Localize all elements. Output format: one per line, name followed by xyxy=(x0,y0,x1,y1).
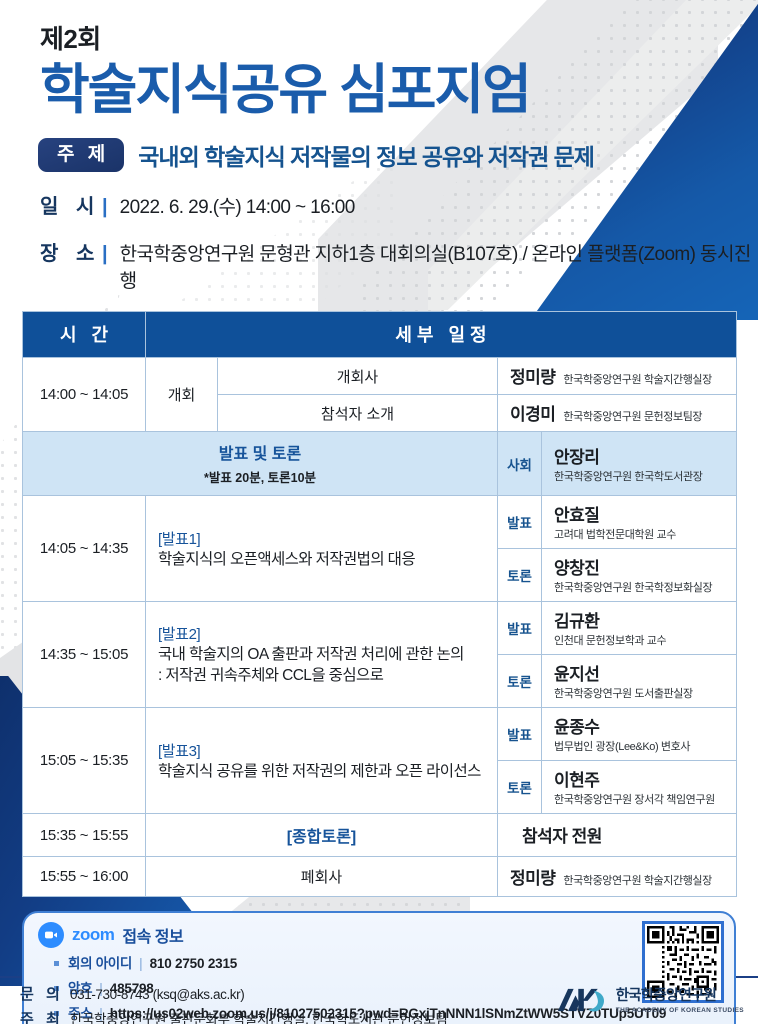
person-affiliation: 고려대 법학전문대학원 교수 xyxy=(554,526,728,542)
cell-role-discussant-1: 토론 xyxy=(498,549,542,602)
cell-detail-closing: 폐회사 xyxy=(146,857,498,897)
table-row: 14:35 ~ 15:05 [발표2] 국내 학술지의 OA 출판과 저작권 처… xyxy=(23,602,737,655)
subject-row: 주 제 국내외 학술지식 저작물의 정보 공유와 저작권 문제 xyxy=(38,138,758,172)
cell-detail-talk-2: [발표2] 국내 학술지의 OA 출판과 저작권 처리에 관한 논의 : 저작권… xyxy=(146,602,498,708)
contact-value: 031-730-8743 (ksq@aks.ac.kr) xyxy=(70,987,244,1002)
talk-tag: [발표2] xyxy=(158,623,485,644)
place-line: 장 소 | 한국학중앙연구원 문형관 지하1층 대회의실(B107호) / 온라… xyxy=(40,237,758,293)
table-row: 14:05 ~ 14:35 [발표1] 학술지식의 오픈액세스와 저작권법의 대… xyxy=(23,496,737,549)
cell-detail-talk-3: [발표3] 학술지식 공유를 위한 저작권의 제한과 오픈 라이선스 xyxy=(146,708,498,814)
zoom-separator: | xyxy=(139,956,143,971)
cell-person-presenter-2: 김규환 인천대 문헌정보학과 교수 xyxy=(542,602,737,655)
aks-logo-text-ko: 한국학중앙연구원 xyxy=(616,988,716,1004)
cell-person-panel: 참석자 전원 xyxy=(498,814,737,857)
cell-time-closing: 15:55 ~ 16:00 xyxy=(23,857,146,897)
cell-person-presenter-3: 윤종수 법무법인 광장(Lee&Ko) 변호사 xyxy=(542,708,737,761)
zoom-box-title: 접속 정보 xyxy=(122,923,183,947)
aks-logo-mark xyxy=(556,985,608,1015)
talk-tag: [발표1] xyxy=(158,528,485,549)
table-row: 15:35 ~ 15:55 [종합토론] 참석자 전원 xyxy=(23,814,737,857)
host-label: 주 최 xyxy=(20,1008,70,1024)
place-value: 한국학중앙연구원 문형관 지하1층 대회의실(B107호) / 온라인 플랫폼(… xyxy=(120,239,758,293)
zoom-meeting-id-value: 810 2750 2315 xyxy=(150,956,238,971)
talk-title: 학술지식의 오픈액세스와 저작권법의 대응 xyxy=(158,549,485,570)
table-row: 15:05 ~ 15:35 [발표3] 학술지식 공유를 위한 저작권의 제한과… xyxy=(23,708,737,761)
session-banner-note: *발표 20분, 토론10분 xyxy=(23,467,497,486)
date-label: 일 시 xyxy=(40,190,102,219)
cell-role-presenter-3: 발표 xyxy=(498,708,542,761)
person-name: 정미량 xyxy=(510,363,555,388)
cell-time-opening: 14:00 ~ 14:05 xyxy=(23,358,146,432)
cell-time-panel: 15:35 ~ 15:55 xyxy=(23,814,146,857)
person-affiliation: 한국학중앙연구원 한국학도서관장 xyxy=(554,468,728,484)
person-name: 윤지선 xyxy=(554,660,728,685)
column-header-detail: 세부 일정 xyxy=(146,312,737,358)
page-title: 학술지식공유 심포지엄 xyxy=(40,60,758,120)
cell-person-chair: 안장리 한국학중앙연구원 한국학도서관장 xyxy=(542,432,737,496)
place-separator: | xyxy=(102,243,108,266)
cell-session-banner: 발표 및 토론 *발표 20분, 토론10분 xyxy=(23,432,498,496)
person-affiliation: 인천대 문헌정보학과 교수 xyxy=(554,632,728,648)
poster-header: 제2회 학술지식공유 심포지엄 xyxy=(0,0,758,120)
person-name: 안효질 xyxy=(554,501,728,526)
host-line: 주 최 한국학중앙연구원 출판문화부 학술지간행실, 한국학도서관 문헌정보팀 xyxy=(20,1008,447,1024)
cell-person-discussant-3: 이현주 한국학중앙연구원 장서각 책임연구원 xyxy=(542,761,737,814)
table-row-session-banner: 발표 및 토론 *발표 20분, 토론10분 사회 안장리 한국학중앙연구원 한… xyxy=(23,432,737,496)
place-label: 장 소 xyxy=(40,237,102,266)
host-value: 한국학중앙연구원 출판문화부 학술지간행실, 한국학도서관 문헌정보팀 xyxy=(70,1008,447,1024)
cell-detail-panel: [종합토론] xyxy=(146,814,498,857)
person-name: 이현주 xyxy=(554,766,728,791)
person-affiliation: 한국학중앙연구원 문헌정보팀장 xyxy=(563,408,702,424)
cell-person-discussant-2: 윤지선 한국학중앙연구원 도서출판실장 xyxy=(542,655,737,708)
cell-person-opening-1: 정미량한국학중앙연구원 학술지간행실장 xyxy=(498,358,737,395)
panel-title: [종합토론] xyxy=(287,829,357,846)
edition-label: 제2회 xyxy=(40,26,758,52)
subject-badge: 주 제 xyxy=(38,138,124,172)
cell-role-presenter-2: 발표 xyxy=(498,602,542,655)
video-camera-icon xyxy=(38,922,64,948)
date-value: 2022. 6. 29.(수) 14:00 ~ 16:00 xyxy=(120,192,355,219)
cell-segment-opening: 개회 xyxy=(146,358,218,432)
person-affiliation: 한국학중앙연구원 한국학정보화실장 xyxy=(554,579,728,595)
person-affiliation: 한국학중앙연구원 도서출판실장 xyxy=(554,685,728,701)
table-header-row: 시 간 세부 일정 xyxy=(23,312,737,358)
talk-tag: [발표3] xyxy=(158,740,485,761)
cell-role-discussant-3: 토론 xyxy=(498,761,542,814)
poster-root: 제2회 학술지식공유 심포지엄 주 제 국내외 학술지식 저작물의 정보 공유와… xyxy=(0,0,758,1024)
cell-person-presenter-1: 안효질 고려대 법학전문대학원 교수 xyxy=(542,496,737,549)
cell-role-presenter-1: 발표 xyxy=(498,496,542,549)
column-header-time: 시 간 xyxy=(23,312,146,358)
talk-subtitle: : 저작권 귀속주체와 CCL을 중심으로 xyxy=(158,665,485,686)
footer-text-block: 문 의 031-730-8743 (ksq@aks.ac.kr) 주 최 한국학… xyxy=(20,983,447,1024)
date-separator: | xyxy=(102,196,108,219)
person-affiliation: 한국학중앙연구원 장서각 책임연구원 xyxy=(554,791,728,807)
person-affiliation: 한국학중앙연구원 학술지간행실장 xyxy=(563,371,711,387)
cell-detail-opening-1: 개회사 xyxy=(218,358,498,395)
bullet-icon xyxy=(54,961,59,966)
person-name: 윤종수 xyxy=(554,713,728,738)
subject-text: 국내외 학술지식 저작물의 정보 공유와 저작권 문제 xyxy=(138,138,594,172)
person-name: 김규환 xyxy=(554,607,728,632)
list-item: 회의 아이디 | 810 2750 2315 xyxy=(54,952,720,972)
cell-role-chair: 사회 xyxy=(498,432,542,496)
date-line: 일 시 | 2022. 6. 29.(수) 14:00 ~ 16:00 xyxy=(40,190,758,219)
cell-role-discussant-2: 토론 xyxy=(498,655,542,708)
contact-label: 문 의 xyxy=(20,983,70,1004)
zoom-meeting-id-label: 회의 아이디 xyxy=(68,952,132,972)
cell-time-talk-3: 15:05 ~ 15:35 xyxy=(23,708,146,814)
poster-footer: 문 의 031-730-8743 (ksq@aks.ac.kr) 주 최 한국학… xyxy=(0,978,758,1024)
aks-logo: 한국학중앙연구원 THE ACADEMY OF KOREAN STUDIES xyxy=(556,985,744,1015)
cell-person-discussant-1: 양창진 한국학중앙연구원 한국학정보화실장 xyxy=(542,549,737,602)
cell-time-talk-1: 14:05 ~ 14:35 xyxy=(23,496,146,602)
person-name: 이경미 xyxy=(510,400,555,425)
zoom-box-header: zoom 접속 정보 xyxy=(38,922,720,948)
person-name: 정미량 xyxy=(510,864,555,889)
cell-detail-talk-1: [발표1] 학술지식의 오픈액세스와 저작권법의 대응 xyxy=(146,496,498,602)
aks-logo-text: 한국학중앙연구원 THE ACADEMY OF KOREAN STUDIES xyxy=(616,987,744,1014)
table-body: 14:00 ~ 14:05 개회 개회사 정미량한국학중앙연구원 학술지간행실장… xyxy=(23,358,737,897)
cell-person-opening-2: 이경미한국학중앙연구원 문헌정보팀장 xyxy=(498,395,737,432)
panel-participants: 참석자 전원 xyxy=(510,827,602,846)
person-affiliation: 한국학중앙연구원 학술지간행실장 xyxy=(563,872,711,888)
contact-line: 문 의 031-730-8743 (ksq@aks.ac.kr) xyxy=(20,983,447,1004)
person-name: 양창진 xyxy=(554,554,728,579)
table-row: 14:00 ~ 14:05 개회 개회사 정미량한국학중앙연구원 학술지간행실장 xyxy=(23,358,737,395)
cell-time-talk-2: 14:35 ~ 15:05 xyxy=(23,602,146,708)
cell-person-closing: 정미량한국학중앙연구원 학술지간행실장 xyxy=(498,857,737,897)
schedule-table: 시 간 세부 일정 14:00 ~ 14:05 개회 개회사 정미량한국학중앙연… xyxy=(22,311,737,897)
schedule-table-wrapper: 시 간 세부 일정 14:00 ~ 14:05 개회 개회사 정미량한국학중앙연… xyxy=(22,311,736,897)
table-row: 15:55 ~ 16:00 폐회사 정미량한국학중앙연구원 학술지간행실장 xyxy=(23,857,737,897)
table-head: 시 간 세부 일정 xyxy=(23,312,737,358)
zoom-brand-label: zoom xyxy=(72,925,114,945)
cell-detail-opening-2: 참석자 소개 xyxy=(218,395,498,432)
person-affiliation: 법무법인 광장(Lee&Ko) 변호사 xyxy=(554,738,728,754)
session-banner-title: 발표 및 토론 xyxy=(23,440,497,464)
aks-logo-text-en: THE ACADEMY OF KOREAN STUDIES xyxy=(616,1007,744,1014)
talk-title: 학술지식 공유를 위한 저작권의 제한과 오픈 라이선스 xyxy=(158,761,485,782)
talk-title: 국내 학술지의 OA 출판과 저작권 처리에 관한 논의 xyxy=(158,644,485,665)
person-name: 안장리 xyxy=(554,443,728,468)
